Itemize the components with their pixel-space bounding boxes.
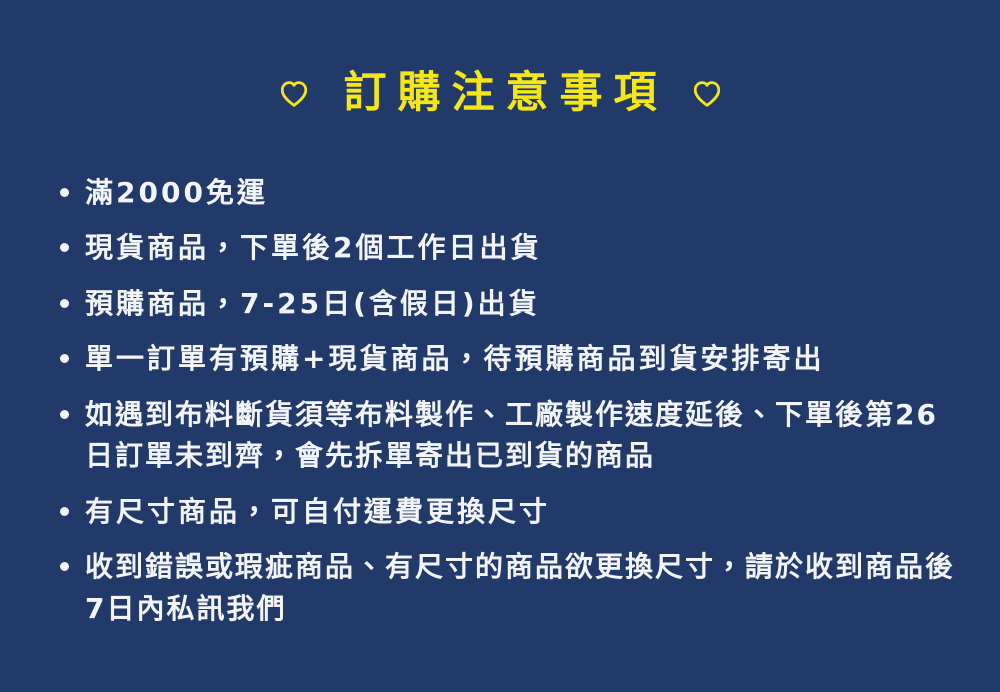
heart-icon (694, 81, 720, 107)
list-item-text: 有尺寸商品，可自付運費更換尺寸 (85, 491, 960, 532)
notice-list: 滿2000免運 現貨商品，下單後2個工作日出貨 預購商品，7-25日(含假日)出… (60, 172, 960, 643)
bullet-dot-icon (60, 299, 69, 308)
list-item: 單一訂單有預購+現貨商品，待預購商品到貨安排寄出 (60, 338, 960, 379)
list-item: 滿2000免運 (60, 172, 960, 213)
list-item-text: 如遇到布料斷貨須等布料製作、工廠製作速度延後、下單後第26日訂單未到齊，會先拆單… (85, 394, 960, 477)
list-item: 預購商品，7-25日(含假日)出貨 (60, 283, 960, 324)
bullet-dot-icon (60, 188, 69, 197)
page-title-text: 訂購注意事項 (333, 72, 668, 115)
bullet-dot-icon (60, 507, 69, 516)
list-item-text: 預購商品，7-25日(含假日)出貨 (85, 283, 960, 324)
heart-icon (281, 81, 307, 107)
list-item-text: 現貨商品，下單後2個工作日出貨 (85, 227, 960, 268)
list-item-text: 收到錯誤或瑕疵商品、有尺寸的商品欲更換尺寸，請於收到商品後7日內私訊我們 (85, 546, 960, 629)
bullet-dot-icon (60, 243, 69, 252)
order-notice-card: 訂購注意事項 滿2000免運 現貨商品，下單後2個工作日出貨 預購商品，7-25… (0, 0, 1000, 692)
list-item: 有尺寸商品，可自付運費更換尺寸 (60, 491, 960, 532)
list-item-text: 滿2000免運 (85, 172, 960, 213)
page-title: 訂購注意事項 (0, 72, 1000, 115)
list-item: 如遇到布料斷貨須等布料製作、工廠製作速度延後、下單後第26日訂單未到齊，會先拆單… (60, 394, 960, 477)
bullet-dot-icon (60, 562, 69, 571)
list-item: 收到錯誤或瑕疵商品、有尺寸的商品欲更換尺寸，請於收到商品後7日內私訊我們 (60, 546, 960, 629)
bullet-dot-icon (60, 354, 69, 363)
list-item-text: 單一訂單有預購+現貨商品，待預購商品到貨安排寄出 (85, 338, 960, 379)
bullet-dot-icon (60, 410, 69, 419)
list-item: 現貨商品，下單後2個工作日出貨 (60, 227, 960, 268)
